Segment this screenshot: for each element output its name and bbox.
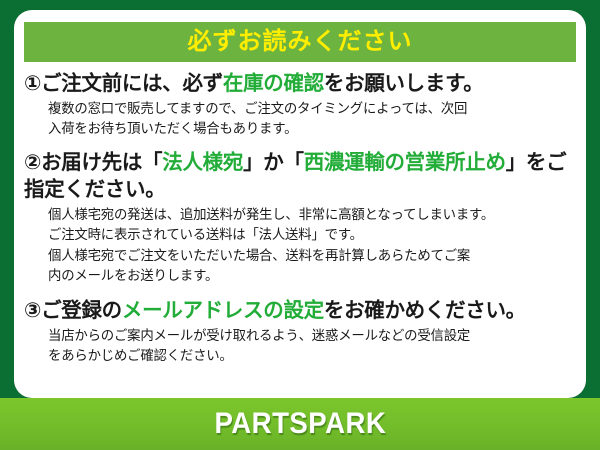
notice-item-2-heading-part-4: 」 [506,151,526,174]
notice-item-1-marker: ① [24,72,41,95]
notice-item-3-body-line-1: をあらかじめご確認ください。 [48,346,580,366]
notice-item-1: ①ご注文前には、必ず在庫の確認をお願いします。 複数の窓口で販売してますので、ご… [24,70,580,139]
notice-item-3-heading-part-0: ご登録の [41,299,122,322]
notice-item-2-heading: ②お届け先は「法人様宛」か「西濃運輸の営業所止め」をご指定ください。 [24,149,580,203]
notice-item-1-heading-part-2: をお願いします。 [324,72,484,95]
notice-item-2-heading-part-0: お届け先は「 [41,151,162,174]
notice-item-1-body-line-0: 複数の窓口で販売してますので、ご注文のタイミングによっては、次回 [48,99,580,119]
notice-item-2-marker: ② [24,151,41,174]
notice-item-2-body: 個人様宅宛の発送は、追加送料が発生し、非常に高額となってしまいます。 ご注文時に… [48,205,580,285]
notice-item-2: ②お届け先は「法人様宛」か「西濃運輸の営業所止め」をご指定ください。 個人様宅宛… [24,149,580,286]
notice-item-3-body-line-0: 当店からのご案内メールが受け取れるよう、迷惑メールなどの受信設定 [48,326,580,346]
notice-item-2-body-line-3: 内のメールをお送りします。 [48,266,580,286]
brand-logo-text: PARTSPARK [214,409,386,439]
notice-item-3-body: 当店からのご案内メールが受け取れるよう、迷惑メールなどの受信設定 をあらかじめご… [48,326,580,366]
notice-item-3: ③ご登録のメールアドレスの設定をお確かめください。 当店からのご案内メールが受け… [24,297,580,366]
notice-banner: 必ずお読みください [24,22,576,62]
brand-footer: PARTSPARK [0,398,600,450]
notice-item-1-heading: ①ご注文前には、必ず在庫の確認をお願いします。 [24,70,580,97]
notice-content: ①ご注文前には、必ず在庫の確認をお願いします。 複数の窓口で販売してますので、ご… [24,68,580,368]
notice-item-1-heading-part-1: 在庫の確認 [223,72,324,95]
notice-item-3-heading-part-2: をお確かめください。 [324,299,526,322]
notice-item-1-body: 複数の窓口で販売してますので、ご注文のタイミングによっては、次回 入荷をお待ち頂… [48,99,580,139]
notice-item-2-body-line-0: 個人様宅宛の発送は、追加送料が発生し、非常に高額となってしまいます。 [48,205,580,225]
notice-card: 必ずお読みください ①ご注文前には、必ず在庫の確認をお願いします。 複数の窓口で… [14,10,586,398]
notice-frame: 必ずお読みください ①ご注文前には、必ず在庫の確認をお願いします。 複数の窓口で… [0,0,600,450]
banner-title: 必ずお読みください [188,30,413,54]
notice-item-1-heading-part-0: ご注文前には、必ず [41,72,223,95]
notice-item-3-heading-part-1: メールアドレスの設定 [122,299,324,322]
notice-item-2-heading-part-1: 法人様宛 [162,151,243,174]
notice-item-2-heading-part-2: 」か「 [243,151,304,174]
notice-item-2-body-line-2: 個人様宅宛でご注文をいただいた場合、送料を再計算しあらためてご案 [48,246,580,266]
notice-item-2-heading-part-3: 西濃運輸の営業所止め [304,151,506,174]
notice-item-3-heading: ③ご登録のメールアドレスの設定をお確かめください。 [24,297,580,324]
notice-item-1-body-line-1: 入荷をお待ち頂いただく場合もあります。 [48,119,580,139]
notice-item-3-marker: ③ [24,299,41,322]
notice-item-2-body-line-1: ご注文時に表示されている送料は「法人送料」です。 [48,225,580,245]
